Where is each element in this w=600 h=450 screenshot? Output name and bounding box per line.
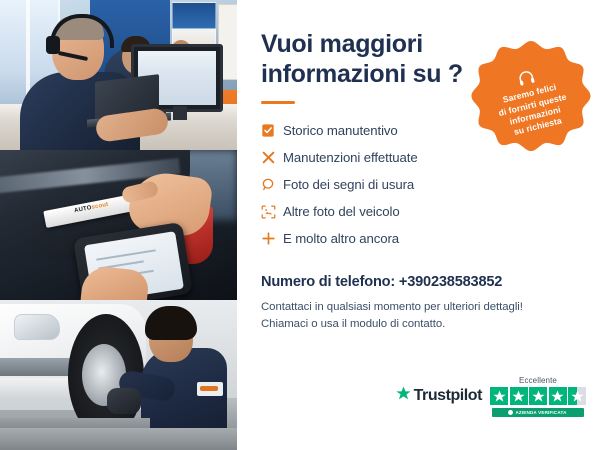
verified-label: AZIENDA VERIFICATA — [515, 410, 566, 415]
photo-column: AUTOscout — [0, 0, 237, 450]
list-item: E molto altro ancora — [261, 225, 578, 252]
mechanic-hair-decor — [145, 306, 197, 340]
trustpilot-widget[interactable]: Trustpilot Eccellente — [396, 376, 586, 417]
list-item: Foto dei segni di usura — [261, 171, 578, 198]
contact-subtext-line-2: Chiamaci o usa il modulo di contatto. — [261, 316, 578, 333]
star-half-icon — [568, 387, 586, 405]
star-filled-icon — [490, 387, 508, 405]
star-rating — [490, 387, 586, 405]
status-badge: AZIENDA VERIFICATA — [492, 408, 584, 417]
promo-panel: AUTOscout — [0, 0, 600, 450]
clipboard-check-icon — [261, 123, 283, 138]
garage-floor-decor — [0, 428, 237, 450]
photo-call-centre — [0, 0, 237, 150]
magnifier-icon — [261, 177, 283, 192]
photo-wheel-service — [0, 300, 237, 450]
page-title: Vuoi maggiori informazioni su ? — [261, 30, 481, 89]
headline-line-2: informazioni su ? — [261, 60, 463, 88]
trustpilot-rating: Eccellente — [490, 376, 586, 417]
verified-check-icon — [508, 410, 513, 415]
monitor-stand-decor — [173, 106, 187, 120]
feature-label: Foto dei segni di usura — [283, 177, 414, 192]
star-filled-icon — [510, 387, 528, 405]
wrench-cross-icon — [261, 150, 283, 165]
star-filled-icon — [529, 387, 547, 405]
rating-label: Eccellente — [519, 376, 557, 385]
star-filled-icon — [549, 387, 567, 405]
callout-badge: Saremo felici di fornirti queste informa… — [471, 39, 591, 159]
contact-subtext: Contattaci in qualsiasi momento per ulte… — [261, 299, 578, 334]
feature-label: Manutenzioni effettuate — [283, 150, 418, 165]
feature-label: E molto altro ancora — [283, 231, 399, 246]
phone-line: Numero di telefono: +390238583852 — [261, 274, 578, 290]
title-divider — [261, 101, 295, 104]
phone-label: Numero di telefono: — [261, 274, 399, 290]
list-item: Altre foto del veicolo — [261, 198, 578, 225]
contact-subtext-line-1: Contattaci in qualsiasi momento per ulte… — [261, 299, 578, 316]
contact-block: Numero di telefono: +390238583852 Contat… — [261, 274, 578, 334]
phone-number[interactable]: +390238583852 — [399, 274, 502, 290]
content-column: Saremo felici di fornirti queste informa… — [237, 0, 600, 450]
trustpilot-logo: Trustpilot — [396, 376, 482, 406]
trustpilot-brand: Trustpilot — [414, 387, 482, 405]
headlight-decor — [14, 314, 60, 340]
trustpilot-star-icon — [396, 386, 411, 406]
mechanic-glove-decor — [107, 388, 141, 414]
photo-frame-icon — [261, 205, 283, 219]
feature-label: Storico manutentivo — [283, 123, 398, 138]
headline-line-1: Vuoi maggiori — [261, 30, 423, 58]
starburst-shape-icon — [471, 39, 591, 159]
feature-label: Altre foto del veicolo — [283, 204, 400, 219]
uniform-logo-decor — [197, 382, 223, 396]
photo-panel-gauge: AUTOscout — [0, 150, 237, 300]
plus-icon — [261, 231, 283, 246]
